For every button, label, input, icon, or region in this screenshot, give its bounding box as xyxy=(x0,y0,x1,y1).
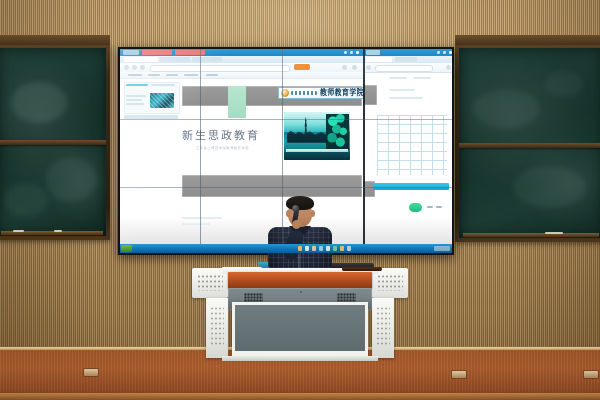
chat-icon[interactable] xyxy=(333,246,337,251)
content-grid xyxy=(377,115,447,175)
address-input-right[interactable] xyxy=(375,65,433,72)
presenter-hair xyxy=(286,196,314,210)
browser-icon[interactable] xyxy=(305,246,309,251)
explorer-icon[interactable] xyxy=(298,246,302,251)
perforation-pattern xyxy=(377,274,403,291)
right-chalk-tray xyxy=(463,233,598,237)
panel-seam xyxy=(200,49,201,253)
panel-seam xyxy=(282,49,283,253)
chalk-piece xyxy=(13,230,24,232)
left-chalkboard-rail xyxy=(0,140,106,145)
lectern-base xyxy=(222,356,378,361)
slide-subtitle: 江苏第二师范学院教师教育学院 xyxy=(196,146,249,150)
right-chalkboard xyxy=(455,44,600,242)
presenter-hand xyxy=(292,220,301,229)
chalk-piece xyxy=(54,230,62,232)
browser-addressbar-right[interactable] xyxy=(363,63,452,73)
slide-band-lower xyxy=(182,175,362,197)
content-thumb[interactable] xyxy=(363,85,377,105)
panel-seam xyxy=(120,119,452,120)
right-chalkboard-rail xyxy=(459,143,600,148)
left-chalkboard-surface xyxy=(0,48,106,236)
slide-banner: 教师教育学院 xyxy=(278,87,363,99)
lectern-worktop xyxy=(228,272,372,288)
site-navbar[interactable] xyxy=(120,72,363,79)
media-icon[interactable] xyxy=(319,246,323,251)
browser-window-right[interactable] xyxy=(363,49,452,253)
folder-icon[interactable] xyxy=(312,246,316,251)
primary-action-button[interactable] xyxy=(409,203,422,212)
sidebar-thumbnail[interactable] xyxy=(150,93,174,108)
slide-title: 新生思政教育 xyxy=(182,127,260,143)
lectern[interactable] xyxy=(192,262,408,362)
app-icon[interactable] xyxy=(347,246,351,251)
go-button[interactable] xyxy=(294,64,310,70)
slide-accent-band xyxy=(228,86,246,118)
lectern-front-panel xyxy=(232,302,368,356)
floor-outlet xyxy=(452,371,466,378)
perforation-pattern xyxy=(197,274,223,291)
left-chalkboard-valance xyxy=(0,35,110,45)
chalk-piece xyxy=(545,232,562,234)
floor-outlet xyxy=(84,369,98,376)
right-chalkboard-surface xyxy=(459,48,600,238)
start-button-icon[interactable] xyxy=(121,245,132,252)
mail-icon[interactable] xyxy=(326,246,330,251)
lectern-right-leg xyxy=(372,298,394,358)
banner-subtext xyxy=(291,91,317,95)
dark-device[interactable] xyxy=(342,267,382,271)
photo-water xyxy=(284,152,350,160)
microphone-head-icon xyxy=(292,205,299,212)
lectern-left-leg xyxy=(206,298,228,358)
right-chalkboard-valance xyxy=(455,35,600,45)
browser-titlebar-left xyxy=(120,49,363,56)
left-chalkboard xyxy=(0,44,110,240)
banner-title-text: 教师教育学院 xyxy=(320,89,363,97)
browser-titlebar-right xyxy=(363,49,452,56)
windows-taskbar[interactable] xyxy=(120,244,452,253)
app-icon[interactable] xyxy=(340,246,344,251)
panel-seam xyxy=(120,187,452,188)
presenter xyxy=(262,196,338,268)
panel-seam xyxy=(363,49,365,253)
taskbar-clock[interactable] xyxy=(434,246,450,251)
address-input[interactable] xyxy=(150,65,290,72)
floor-outlet xyxy=(584,371,598,378)
lecture-hall-scene: 教师教育学院 新生思政教育 江苏第二师范学院教师教育学院 xyxy=(0,0,600,400)
